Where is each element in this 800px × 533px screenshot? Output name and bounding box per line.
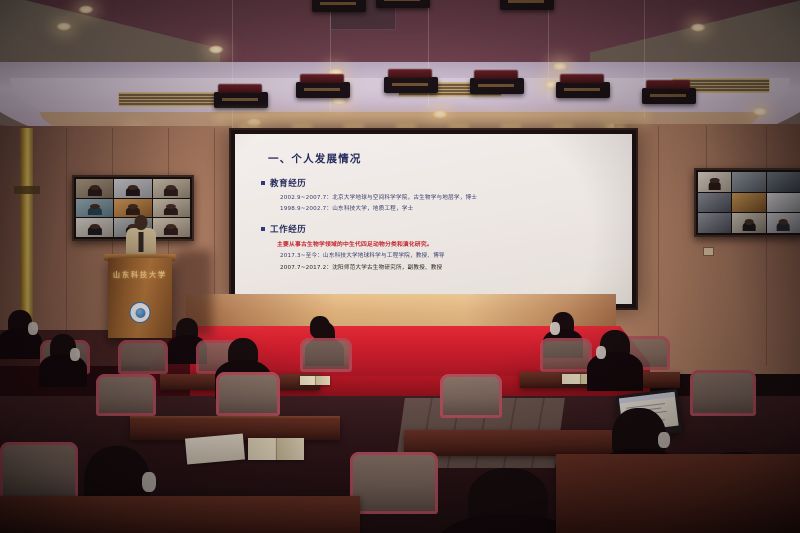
ceiling-suspension-wire: [548, 0, 549, 100]
stage-light-fixture: [470, 78, 524, 94]
slide-section-work: 工作经历: [261, 223, 632, 235]
speaker-tie: [139, 232, 144, 252]
video-tile: [114, 179, 151, 198]
face-mask: [28, 322, 38, 335]
ceiling-downlight: [56, 22, 72, 31]
slide-line: 2002.9~2007.7：北京大学地球与空间科学学院，古生物学与地层学，博士: [280, 193, 632, 201]
audience-head: [228, 338, 258, 370]
auditorium-photo: 一、个人发展情况 教育经历 2002.9~2007.7：北京大学地球与空间科学学…: [0, 0, 800, 533]
slide-line: 1998.9~2002.7：山东科技大学，地质工程，学士: [280, 204, 632, 212]
ceiling-projector: [312, 0, 366, 12]
face-mask: [658, 432, 670, 448]
video-tile: [153, 218, 190, 237]
square-bullet-icon: [261, 227, 265, 231]
speaker-head: [135, 215, 148, 230]
auditorium-seat: [118, 340, 168, 374]
video-tile: [153, 199, 190, 218]
auditorium-seat: [350, 452, 438, 514]
desk-papers: [185, 434, 245, 465]
stage-light-fixture: [642, 88, 696, 104]
face-mask: [596, 346, 606, 359]
ceiling-projector: [376, 0, 430, 8]
audience-head: [310, 316, 330, 338]
audience-desk-foreground: [556, 454, 800, 533]
ceiling-downlight: [78, 5, 94, 14]
right-video-conference-wall[interactable]: [694, 168, 800, 237]
stage-light-fixture: [384, 77, 438, 93]
video-tile: [732, 213, 765, 233]
presentation-slide: 一、个人发展情况 教育经历 2002.9~2007.7：北京大学地球与空间科学学…: [235, 134, 632, 304]
auditorium-seat: [216, 372, 280, 416]
open-notebook: [248, 438, 304, 460]
auditorium-seat: [690, 370, 756, 416]
video-tile: [698, 213, 731, 233]
university-seal-logo: [130, 302, 151, 323]
audience-head: [176, 318, 198, 342]
wall-panel-seam: [766, 126, 767, 366]
video-tile: [153, 179, 190, 198]
video-tile: [767, 213, 800, 233]
auditorium-seat: [96, 374, 156, 416]
ceiling-downlight: [690, 23, 706, 32]
audience-head-foreground: [468, 468, 548, 533]
video-tile: [698, 193, 731, 213]
audience-desk-foreground: [0, 496, 360, 533]
video-tile: [732, 172, 765, 192]
video-tile: [698, 172, 731, 192]
wall-panel-seam: [66, 128, 67, 358]
laptop-toolbar: [619, 392, 675, 404]
video-tile: [76, 218, 113, 237]
face-mask: [550, 322, 560, 335]
open-notebook: [300, 376, 330, 385]
slide-title: 一、个人发展情况: [268, 151, 632, 166]
slide-line: 2007.7~2017.2：沈阳师范大学古生物研究所，副教授、教授: [280, 263, 632, 271]
slide-section-education: 教育经历: [261, 177, 632, 189]
video-tile: [767, 193, 800, 213]
wall-panel-seam: [658, 126, 659, 336]
video-tile: [767, 172, 800, 192]
desk-edge: [130, 416, 340, 420]
projection-screen-frame: 一、个人发展情况 教育经历 2002.9~2007.7：北京大学地球与空间科学学…: [229, 128, 638, 310]
square-bullet-icon: [261, 181, 265, 185]
auditorium-seat: [300, 338, 352, 372]
column-bracket: [14, 186, 40, 194]
video-tile: [76, 199, 113, 218]
auditorium-seat: [0, 442, 78, 500]
auditorium-seat: [540, 338, 592, 372]
ceiling-downlight: [208, 45, 224, 54]
stage-light-fixture: [214, 92, 268, 108]
video-tile: [76, 179, 113, 198]
slide-line-highlight: 主要从事古生物学领域的中生代四足动物分类和演化研究。: [277, 239, 632, 248]
face-mask: [70, 348, 80, 361]
podium-institution-text: 山东科技大学: [108, 270, 172, 280]
auditorium-seat: [440, 374, 502, 418]
ceiling-downlight: [552, 62, 568, 71]
slide-line: 2017.3~至今：山东科技大学地球科学与工程学院，教授、博导: [280, 251, 632, 259]
section-heading: 工作经历: [270, 223, 306, 235]
section-heading: 教育经历: [270, 177, 306, 189]
decorative-gold-column: [20, 128, 33, 328]
podium: 山东科技大学: [108, 258, 172, 338]
video-tile: [732, 193, 765, 213]
ceiling-vent-left: [118, 92, 216, 107]
stage-light-fixture: [296, 82, 350, 98]
ceiling-downlight: [752, 107, 768, 116]
stage-light-fixture: [556, 82, 610, 98]
ceiling-projector: [500, 0, 554, 10]
face-mask: [142, 472, 156, 492]
wall-panel-seam: [214, 128, 215, 318]
wall-switch[interactable]: [703, 247, 714, 256]
video-tile: [114, 199, 151, 218]
